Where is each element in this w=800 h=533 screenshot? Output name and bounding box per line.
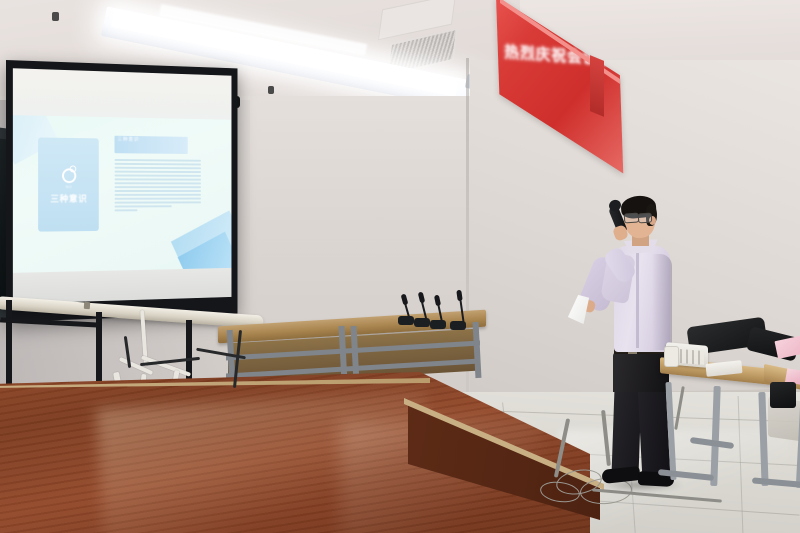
telephone-handset[interactable] [664, 346, 679, 367]
slide-icon-chinese-caption: 三种意识 [50, 192, 87, 205]
slide-icon-english-caption: NO [66, 184, 73, 189]
gooseneck-microphone [450, 321, 466, 330]
slide-icon-badge: NO 三种意识 [38, 138, 99, 232]
desk-leg [710, 386, 720, 486]
slide-body-text [115, 159, 215, 254]
desk-foot [752, 477, 800, 488]
eyeglasses-icon [638, 213, 653, 224]
screen-top-band [13, 68, 232, 120]
slide-title-chip: 三种意识 [115, 136, 188, 154]
gooseneck-microphone [398, 316, 414, 325]
banner-end-fold [590, 55, 604, 117]
gooseneck-microphone [430, 320, 446, 329]
screen-surface: NO 三种意识 三种意识 [13, 68, 232, 304]
slide-title-text: 三种意识 [115, 136, 188, 146]
screen-stand-post [6, 300, 12, 396]
desk-foot [658, 469, 714, 481]
projection-screen[interactable]: NO 三种意识 三种意识 [6, 60, 237, 322]
presenter-leg [611, 386, 641, 479]
screen-roller-cap [84, 302, 90, 309]
presentation-slide: NO 三种意识 三种意识 [13, 115, 232, 273]
telephone-keypad[interactable] [680, 349, 704, 365]
fire-sprinkler-head [52, 12, 59, 21]
black-equipment-case [770, 382, 796, 408]
equipment-desk [660, 330, 800, 510]
gooseneck-microphone [414, 318, 430, 327]
conference-room-photo: 热烈庆祝会议圆满成功 NO 三种意识 三种意识 [0, 0, 800, 533]
eyeglasses-icon [624, 212, 640, 223]
fire-sprinkler-head [268, 86, 274, 94]
desk-leg [665, 382, 676, 480]
shirt-placket [636, 252, 639, 348]
gear-icon [61, 165, 76, 181]
